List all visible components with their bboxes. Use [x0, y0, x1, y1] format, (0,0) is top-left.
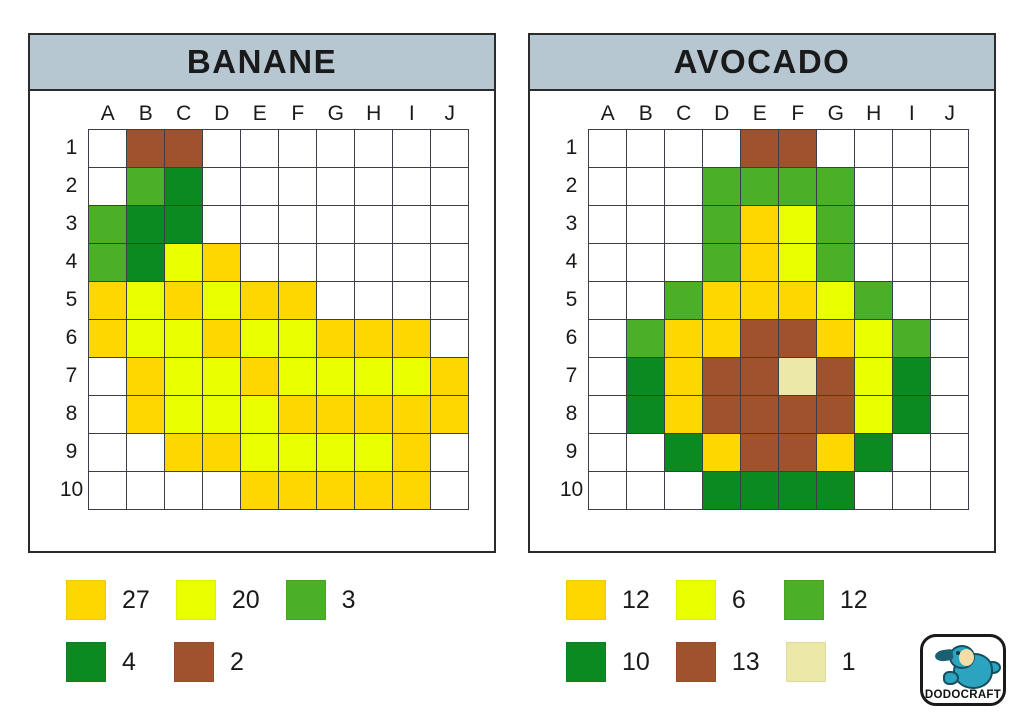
grid-cell-J7[interactable]: [431, 357, 469, 395]
grid-cell-A2[interactable]: [89, 167, 127, 205]
legend-item-gold: 27: [66, 580, 150, 620]
grid-cell-I2[interactable]: [893, 167, 931, 205]
page-title: BANANE: [187, 43, 337, 81]
grid-cell-J1[interactable]: [931, 129, 969, 167]
grid-cell-J10[interactable]: [931, 471, 969, 509]
row-label-2: 2: [55, 167, 89, 205]
panel-header-avocado: AVOCADO: [530, 35, 994, 91]
column-label-d: D: [703, 99, 741, 129]
grid-cell-E10[interactable]: [241, 471, 279, 509]
grid-cell-I10[interactable]: [893, 471, 931, 509]
grid-cell-H3[interactable]: [855, 205, 893, 243]
grid-cell-J8[interactable]: [931, 395, 969, 433]
row-label-10: 10: [55, 471, 89, 509]
grid-cell-G8[interactable]: [817, 395, 855, 433]
legend-swatch-light-green: [286, 580, 326, 620]
grid-cell-D9[interactable]: [703, 433, 741, 471]
row-label-5: 5: [555, 281, 589, 319]
grid-cell-H6[interactable]: [355, 319, 393, 357]
grid-cell-E4[interactable]: [741, 243, 779, 281]
grid-cell-A2[interactable]: [589, 167, 627, 205]
legend-swatch-gold: [566, 580, 606, 620]
grid-cell-F9[interactable]: [279, 433, 317, 471]
row-label-9: 9: [555, 433, 589, 471]
grid-cell-I5[interactable]: [393, 281, 431, 319]
grid-cell-C9[interactable]: [665, 433, 703, 471]
grid-cell-H7[interactable]: [355, 357, 393, 395]
grid-cell-I4[interactable]: [893, 243, 931, 281]
grid-cell-H5[interactable]: [355, 281, 393, 319]
row-label-8: 8: [555, 395, 589, 433]
grid-cell-B10[interactable]: [127, 471, 165, 509]
legend-count: 2: [230, 648, 256, 677]
grid-cell-G5[interactable]: [817, 281, 855, 319]
grid-cell-G2[interactable]: [317, 167, 355, 205]
column-label-c: C: [165, 99, 203, 129]
grid-row: 2: [55, 167, 469, 205]
grid-cell-J3[interactable]: [931, 205, 969, 243]
grid-cell-A1[interactable]: [89, 129, 127, 167]
grid-cell-B2[interactable]: [627, 167, 665, 205]
grid-cell-B9[interactable]: [127, 433, 165, 471]
grid-cell-F6[interactable]: [279, 319, 317, 357]
grid-cell-F1[interactable]: [279, 129, 317, 167]
grid-cell-C8[interactable]: [665, 395, 703, 433]
grid-cell-G7[interactable]: [317, 357, 355, 395]
grid-cell-G1[interactable]: [817, 129, 855, 167]
grid-cell-C9[interactable]: [165, 433, 203, 471]
legend-count: 1: [842, 648, 868, 677]
row-label-4: 4: [555, 243, 589, 281]
grid-cell-E7[interactable]: [241, 357, 279, 395]
grid-cell-F8[interactable]: [279, 395, 317, 433]
grid-cell-C2[interactable]: [165, 167, 203, 205]
grid-cell-E8[interactable]: [741, 395, 779, 433]
grid-cell-H7[interactable]: [855, 357, 893, 395]
grid-row: 5: [55, 281, 469, 319]
column-header-row: ABCDEFGHIJ: [555, 99, 969, 129]
grid-cell-I8[interactable]: [393, 395, 431, 433]
grid-cell-B6[interactable]: [127, 319, 165, 357]
row-label-9: 9: [55, 433, 89, 471]
legend-swatch-dark-green: [66, 642, 106, 682]
grid-cell-B5[interactable]: [627, 281, 665, 319]
grid-cell-E1[interactable]: [241, 129, 279, 167]
column-label-b: B: [627, 99, 665, 129]
grid-corner: [55, 99, 89, 129]
grid-cell-D10[interactable]: [203, 471, 241, 509]
grid-cell-D4[interactable]: [703, 243, 741, 281]
grid-cell-E4[interactable]: [241, 243, 279, 281]
grid-cell-D9[interactable]: [203, 433, 241, 471]
grid-cell-H9[interactable]: [355, 433, 393, 471]
grid-cell-A9[interactable]: [589, 433, 627, 471]
grid-cell-F4[interactable]: [279, 243, 317, 281]
grid-cell-A3[interactable]: [589, 205, 627, 243]
grid-row: 4: [555, 243, 969, 281]
legend-item-dark-green: 4: [66, 642, 148, 682]
grid-cell-A8[interactable]: [589, 395, 627, 433]
grid-cell-D6[interactable]: [203, 319, 241, 357]
grid-cell-G8[interactable]: [317, 395, 355, 433]
grid-cell-D7[interactable]: [203, 357, 241, 395]
panel-header-banane: BANANE: [30, 35, 494, 91]
grid-cell-H4[interactable]: [855, 243, 893, 281]
grid-cell-E9[interactable]: [741, 433, 779, 471]
legend-count: 20: [232, 586, 260, 615]
column-label-h: H: [855, 99, 893, 129]
grid-cell-G9[interactable]: [817, 433, 855, 471]
row-label-8: 8: [55, 395, 89, 433]
grid-cell-F8[interactable]: [779, 395, 817, 433]
grid-cell-C3[interactable]: [665, 205, 703, 243]
grid-cell-B4[interactable]: [127, 243, 165, 281]
grid-cell-J2[interactable]: [431, 167, 469, 205]
grid-cell-C6[interactable]: [165, 319, 203, 357]
grid-cell-G5[interactable]: [317, 281, 355, 319]
grid-cell-H3[interactable]: [355, 205, 393, 243]
grid-row: 1: [555, 129, 969, 167]
grid-cell-H1[interactable]: [855, 129, 893, 167]
grid-cell-B1[interactable]: [127, 129, 165, 167]
grid-cell-A10[interactable]: [89, 471, 127, 509]
row-label-6: 6: [555, 319, 589, 357]
grid-cell-F10[interactable]: [779, 471, 817, 509]
logo-box: DODOCRAFT: [920, 634, 1006, 706]
grid-row: 10: [555, 471, 969, 509]
panel-banane: BANANE ABCDEFGHIJ12345678910: [28, 33, 496, 553]
grid-cell-G10[interactable]: [817, 471, 855, 509]
dodo-face-icon: [959, 649, 974, 666]
grid-cell-D3[interactable]: [703, 205, 741, 243]
grid-cell-E9[interactable]: [241, 433, 279, 471]
grid-cell-H1[interactable]: [355, 129, 393, 167]
legend-count: 6: [732, 586, 758, 615]
grid-cell-C5[interactable]: [665, 281, 703, 319]
grid-cell-J5[interactable]: [931, 281, 969, 319]
grid-cell-B10[interactable]: [627, 471, 665, 509]
column-label-j: J: [431, 99, 469, 129]
page-root: BANANE ABCDEFGHIJ12345678910 AVOCADO ABC…: [0, 0, 1024, 724]
grid-cell-C5[interactable]: [165, 281, 203, 319]
column-label-b: B: [127, 99, 165, 129]
row-label-2: 2: [555, 167, 589, 205]
legend-swatch-cream: [786, 642, 826, 682]
grid-cell-A8[interactable]: [89, 395, 127, 433]
row-label-3: 3: [555, 205, 589, 243]
legend-banane: 2720342: [66, 580, 486, 704]
grid-cell-D8[interactable]: [703, 395, 741, 433]
legend-count: 13: [732, 648, 760, 677]
grid-cell-D7[interactable]: [703, 357, 741, 395]
grid-cell-A6[interactable]: [89, 319, 127, 357]
grid-cell-J9[interactable]: [931, 433, 969, 471]
grid-cell-B3[interactable]: [627, 205, 665, 243]
legend-item-brown: 2: [174, 642, 256, 682]
grid-cell-C10[interactable]: [165, 471, 203, 509]
grid-cell-A5[interactable]: [89, 281, 127, 319]
column-label-g: G: [317, 99, 355, 129]
grid-cell-E6[interactable]: [741, 319, 779, 357]
grid-cell-H9[interactable]: [855, 433, 893, 471]
grid-cell-H5[interactable]: [855, 281, 893, 319]
dodo-thumbsup-icon: [943, 671, 959, 685]
grid-cell-D3[interactable]: [203, 205, 241, 243]
row-label-7: 7: [55, 357, 89, 395]
grid-cell-B7[interactable]: [627, 357, 665, 395]
row-label-1: 1: [55, 129, 89, 167]
grid-cell-D1[interactable]: [703, 129, 741, 167]
column-label-i: I: [393, 99, 431, 129]
grid-cell-I6[interactable]: [893, 319, 931, 357]
grid-cell-H8[interactable]: [855, 395, 893, 433]
legend-swatch-light-green: [784, 580, 824, 620]
grid-cell-I3[interactable]: [393, 205, 431, 243]
grid-cell-I2[interactable]: [393, 167, 431, 205]
grid-cell-H8[interactable]: [355, 395, 393, 433]
grid-cell-I4[interactable]: [393, 243, 431, 281]
legend-swatch-dark-green: [566, 642, 606, 682]
grid-cell-E5[interactable]: [741, 281, 779, 319]
grid-row: 7: [55, 357, 469, 395]
row-label-7: 7: [555, 357, 589, 395]
grid-cell-G2[interactable]: [817, 167, 855, 205]
grid-row: 9: [55, 433, 469, 471]
grid-cell-F1[interactable]: [779, 129, 817, 167]
grid-cell-C6[interactable]: [665, 319, 703, 357]
grid-cell-E1[interactable]: [741, 129, 779, 167]
pixel-grid-avocado[interactable]: ABCDEFGHIJ12345678910: [555, 99, 970, 510]
grid-cell-B4[interactable]: [627, 243, 665, 281]
grid-cell-I6[interactable]: [393, 319, 431, 357]
grid-cell-B5[interactable]: [127, 281, 165, 319]
grid-cell-F4[interactable]: [779, 243, 817, 281]
grid-cell-C4[interactable]: [165, 243, 203, 281]
grid-cell-I1[interactable]: [893, 129, 931, 167]
grid-cell-C7[interactable]: [665, 357, 703, 395]
grid-cell-C7[interactable]: [165, 357, 203, 395]
legend-item-light-green: 12: [784, 580, 868, 620]
column-label-a: A: [89, 99, 127, 129]
row-label-4: 4: [55, 243, 89, 281]
grid-cell-J9[interactable]: [431, 433, 469, 471]
grid-cell-F6[interactable]: [779, 319, 817, 357]
column-label-c: C: [665, 99, 703, 129]
grid-corner: [555, 99, 589, 129]
grid-cell-G3[interactable]: [317, 205, 355, 243]
grid-cell-J4[interactable]: [931, 243, 969, 281]
legend-item-light-green: 3: [286, 580, 368, 620]
column-label-j: J: [931, 99, 969, 129]
legend-item-yellow: 20: [176, 580, 260, 620]
grid-cell-I1[interactable]: [393, 129, 431, 167]
legend-item-yellow: 6: [676, 580, 758, 620]
column-label-e: E: [241, 99, 279, 129]
grid-cell-G4[interactable]: [817, 243, 855, 281]
grid-cell-J2[interactable]: [931, 167, 969, 205]
grid-cell-G3[interactable]: [817, 205, 855, 243]
grid-cell-I3[interactable]: [893, 205, 931, 243]
grid-cell-B8[interactable]: [627, 395, 665, 433]
grid-cell-F2[interactable]: [279, 167, 317, 205]
grid-cell-G6[interactable]: [817, 319, 855, 357]
grid-cell-D1[interactable]: [203, 129, 241, 167]
grid-cell-F2[interactable]: [779, 167, 817, 205]
grid-cell-A7[interactable]: [89, 357, 127, 395]
grid-cell-A3[interactable]: [89, 205, 127, 243]
grid-cell-H10[interactable]: [855, 471, 893, 509]
grid-cell-H2[interactable]: [355, 167, 393, 205]
grid-cell-C3[interactable]: [165, 205, 203, 243]
grid-row: 6: [555, 319, 969, 357]
grid-row: 2: [555, 167, 969, 205]
grid-cell-H6[interactable]: [855, 319, 893, 357]
column-label-e: E: [741, 99, 779, 129]
grid-cell-E3[interactable]: [241, 205, 279, 243]
column-header-row: ABCDEFGHIJ: [55, 99, 469, 129]
grid-cell-C4[interactable]: [665, 243, 703, 281]
column-label-g: G: [817, 99, 855, 129]
column-label-f: F: [779, 99, 817, 129]
grid-cell-F7[interactable]: [779, 357, 817, 395]
row-label-10: 10: [555, 471, 589, 509]
grid-cell-E10[interactable]: [741, 471, 779, 509]
grid-cell-A1[interactable]: [589, 129, 627, 167]
grid-cell-F10[interactable]: [279, 471, 317, 509]
legend-count: 10: [622, 648, 650, 677]
grid-row: 4: [55, 243, 469, 281]
legend-count: 3: [342, 586, 368, 615]
legend-swatch-yellow: [176, 580, 216, 620]
grid-cell-G4[interactable]: [317, 243, 355, 281]
grid-cell-G7[interactable]: [817, 357, 855, 395]
pixel-grid-banane[interactable]: ABCDEFGHIJ12345678910: [55, 99, 470, 510]
grid-cell-G1[interactable]: [317, 129, 355, 167]
grid-cell-D4[interactable]: [203, 243, 241, 281]
grid-cell-A7[interactable]: [589, 357, 627, 395]
row-label-5: 5: [55, 281, 89, 319]
grid-cell-J8[interactable]: [431, 395, 469, 433]
grid-cell-A6[interactable]: [589, 319, 627, 357]
grid-cell-B6[interactable]: [627, 319, 665, 357]
grid-cell-B9[interactable]: [627, 433, 665, 471]
grid-row: 8: [555, 395, 969, 433]
panel-avocado: AVOCADO ABCDEFGHIJ12345678910: [528, 33, 996, 553]
grid-cell-C2[interactable]: [665, 167, 703, 205]
row-label-3: 3: [55, 205, 89, 243]
grid-cell-F3[interactable]: [279, 205, 317, 243]
grid-cell-I7[interactable]: [893, 357, 931, 395]
grid-cell-H10[interactable]: [355, 471, 393, 509]
grid-cell-F3[interactable]: [779, 205, 817, 243]
grid-cell-I7[interactable]: [393, 357, 431, 395]
grid-cell-E2[interactable]: [241, 167, 279, 205]
grid-cell-A4[interactable]: [89, 243, 127, 281]
grid-cell-I9[interactable]: [893, 433, 931, 471]
grid-cell-G10[interactable]: [317, 471, 355, 509]
grid-cell-I10[interactable]: [393, 471, 431, 509]
grid-cell-C1[interactable]: [165, 129, 203, 167]
grid-cell-E2[interactable]: [741, 167, 779, 205]
grid-row: 5: [555, 281, 969, 319]
grid-cell-D2[interactable]: [203, 167, 241, 205]
row-label-1: 1: [555, 129, 589, 167]
column-label-i: I: [893, 99, 931, 129]
grid-cell-E5[interactable]: [241, 281, 279, 319]
grid-cell-D5[interactable]: [703, 281, 741, 319]
column-label-a: A: [589, 99, 627, 129]
grid-cell-B3[interactable]: [127, 205, 165, 243]
grid-cell-J3[interactable]: [431, 205, 469, 243]
legend-item-gold: 12: [566, 580, 650, 620]
logo-text: DODOCRAFT: [923, 689, 1003, 701]
grid-row: 3: [55, 205, 469, 243]
grid-cell-E3[interactable]: [741, 205, 779, 243]
grid-cell-A4[interactable]: [589, 243, 627, 281]
grid-cell-F9[interactable]: [779, 433, 817, 471]
grid-cell-F5[interactable]: [279, 281, 317, 319]
grid-cell-F7[interactable]: [279, 357, 317, 395]
grid-cell-C8[interactable]: [165, 395, 203, 433]
grid-cell-E6[interactable]: [241, 319, 279, 357]
grid-cell-J7[interactable]: [931, 357, 969, 395]
grid-cell-D10[interactable]: [703, 471, 741, 509]
grid-cell-B1[interactable]: [627, 129, 665, 167]
grid-cell-E8[interactable]: [241, 395, 279, 433]
grid-cell-J6[interactable]: [431, 319, 469, 357]
grid-row: 6: [55, 319, 469, 357]
grid-cell-A9[interactable]: [89, 433, 127, 471]
grid-cell-H2[interactable]: [855, 167, 893, 205]
grid-cell-I5[interactable]: [893, 281, 931, 319]
grid-row: 9: [555, 433, 969, 471]
grid-cell-J6[interactable]: [931, 319, 969, 357]
grid-cell-F5[interactable]: [779, 281, 817, 319]
grid-cell-I9[interactable]: [393, 433, 431, 471]
grid-cell-A5[interactable]: [589, 281, 627, 319]
grid-cell-D2[interactable]: [703, 167, 741, 205]
grid-row: 10: [55, 471, 469, 509]
legend-count: 12: [840, 586, 868, 615]
grid-cell-B8[interactable]: [127, 395, 165, 433]
column-label-f: F: [279, 99, 317, 129]
grid-cell-D5[interactable]: [203, 281, 241, 319]
grid-cell-I8[interactable]: [893, 395, 931, 433]
grid-cell-H4[interactable]: [355, 243, 393, 281]
grid-cell-D6[interactable]: [703, 319, 741, 357]
grid-cell-C1[interactable]: [665, 129, 703, 167]
grid-row: 8: [55, 395, 469, 433]
grid-cell-J10[interactable]: [431, 471, 469, 509]
grid-cell-A10[interactable]: [589, 471, 627, 509]
legend-swatch-yellow: [676, 580, 716, 620]
grid-cell-B2[interactable]: [127, 167, 165, 205]
grid-row: 3: [555, 205, 969, 243]
column-label-d: D: [203, 99, 241, 129]
grid-cell-J1[interactable]: [431, 129, 469, 167]
grid-cell-B7[interactable]: [127, 357, 165, 395]
grid-cell-G9[interactable]: [317, 433, 355, 471]
grid-cell-C10[interactable]: [665, 471, 703, 509]
grid-cell-J5[interactable]: [431, 281, 469, 319]
grid-cell-E7[interactable]: [741, 357, 779, 395]
dodocraft-logo: DODOCRAFT: [920, 634, 1006, 710]
grid-cell-G6[interactable]: [317, 319, 355, 357]
grid-cell-J4[interactable]: [431, 243, 469, 281]
legend-item-brown: 13: [676, 642, 760, 682]
legend-count: 12: [622, 586, 650, 615]
grid-cell-D8[interactable]: [203, 395, 241, 433]
